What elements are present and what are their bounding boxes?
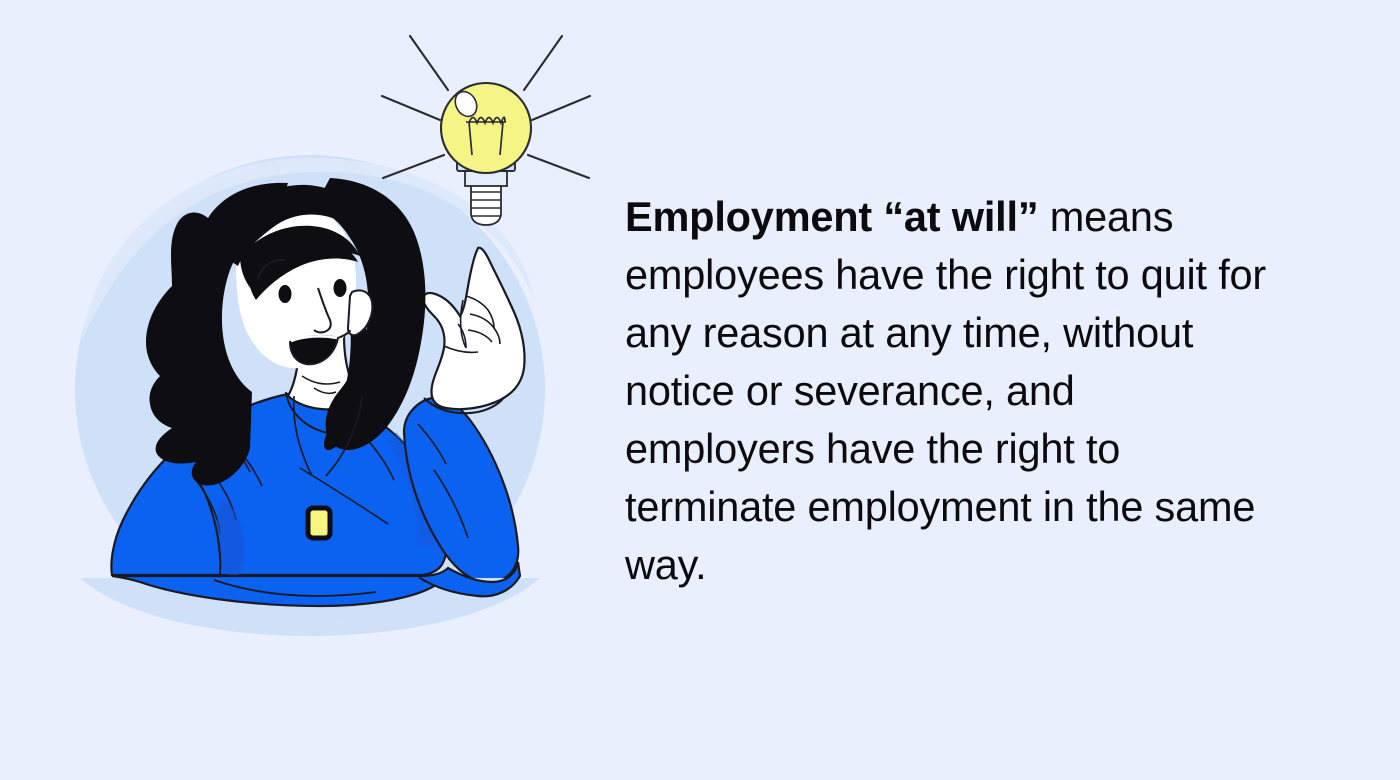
necklace-pendant xyxy=(308,508,330,538)
caption-bold-lead: Employment “at will” xyxy=(625,193,1038,240)
torso-bottom-crop xyxy=(0,562,620,700)
woman-pointing-up-illustration xyxy=(0,0,620,700)
caption-text: Employment “at will” means employees hav… xyxy=(625,188,1275,594)
caption-rest: means employees have the right to quit f… xyxy=(625,193,1266,588)
illustration-with-caption-banner: Employment “at will” means employees hav… xyxy=(0,0,1400,780)
